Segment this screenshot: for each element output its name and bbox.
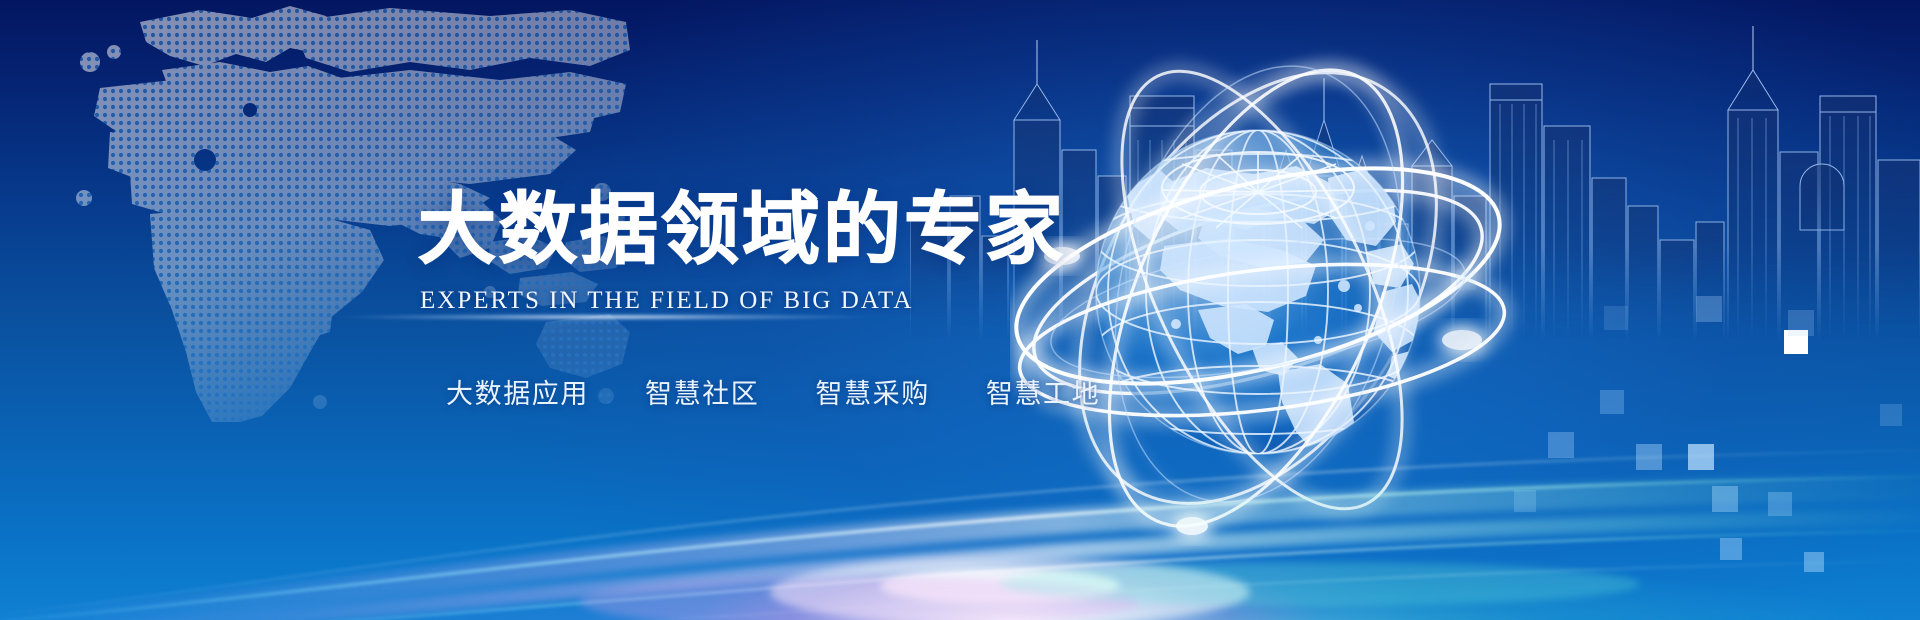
square — [1688, 444, 1714, 470]
square — [1696, 296, 1722, 322]
nav-item-smart-procurement[interactable]: 智慧采购 — [815, 378, 929, 412]
square — [1604, 306, 1628, 330]
square — [1712, 486, 1738, 512]
page-title: 大数据领域的专家 — [418, 188, 1066, 272]
square — [1784, 330, 1808, 354]
square — [1768, 492, 1792, 516]
square — [1600, 390, 1624, 414]
square — [1636, 444, 1662, 470]
square — [1548, 432, 1574, 458]
banner-nav: 大数据应用 智慧社区 智慧采购 智慧工地 — [446, 378, 1100, 412]
page-subtitle: EXPERTS IN THE FIELD OF BIG DATA — [420, 286, 913, 316]
nav-item-big-data-application[interactable]: 大数据应用 — [446, 378, 589, 412]
square — [1720, 538, 1742, 560]
nav-item-smart-community[interactable]: 智慧社区 — [645, 378, 759, 412]
square — [1788, 310, 1814, 336]
banner-root: 大数据领域的专家 EXPERTS IN THE FIELD OF BIG DAT… — [0, 0, 1920, 620]
square — [1456, 270, 1476, 290]
square — [1880, 404, 1902, 426]
square — [1804, 552, 1824, 572]
nav-item-smart-construction-site[interactable]: 智慧工地 — [986, 378, 1100, 412]
square — [1514, 490, 1536, 512]
copy-block: 大数据领域的专家 EXPERTS IN THE FIELD OF BIG DAT… — [0, 0, 1100, 620]
